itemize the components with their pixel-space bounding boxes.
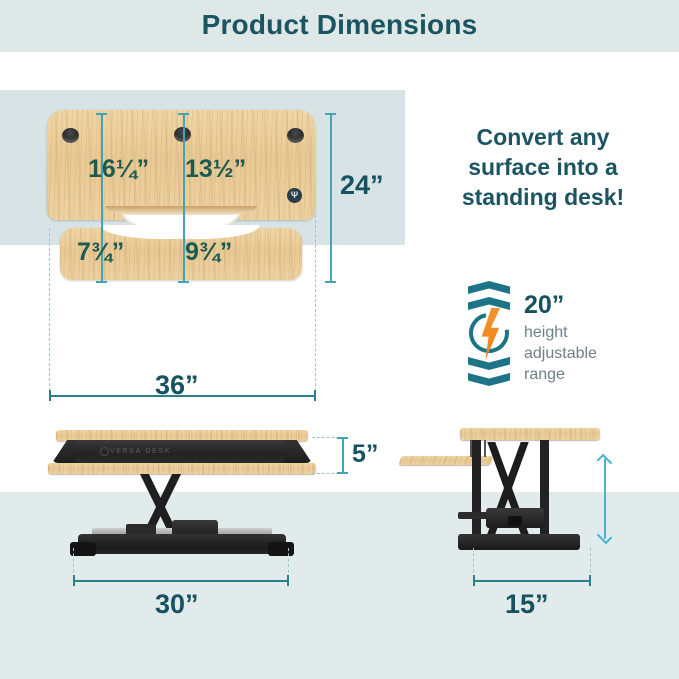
height-range-description: height adjustable range bbox=[524, 322, 664, 385]
dim-cap-left-top bbox=[96, 113, 107, 115]
arrow-head-up-icon bbox=[597, 454, 613, 470]
tagline-line-2: surface into a bbox=[418, 152, 668, 182]
cable-grommet-right-icon bbox=[287, 128, 304, 143]
dim-label-7-75: 7¾” bbox=[77, 238, 124, 267]
height-range-double-arrow-icon bbox=[598, 455, 611, 543]
dim-label-9-75: 9¾” bbox=[185, 238, 232, 267]
dim-cap-30-right bbox=[287, 575, 289, 586]
dim-cap-thickness-bottom bbox=[337, 472, 348, 474]
dim-label-13-5: 13½” bbox=[185, 155, 246, 184]
ext-line-15-right bbox=[590, 548, 591, 578]
chevron-down-icon-2 bbox=[468, 373, 510, 386]
dim-cap-width-right bbox=[314, 390, 316, 401]
dim-label-36: 36” bbox=[155, 370, 199, 401]
height-range-value: 20” bbox=[524, 291, 564, 320]
chevron-up-icon-1 bbox=[468, 281, 510, 294]
brand-logo-text: VERSA DESK bbox=[110, 448, 210, 455]
raised-view-top-board bbox=[460, 428, 600, 440]
raised-view-hanger-right bbox=[484, 440, 486, 457]
dim-line-depth-24 bbox=[330, 113, 332, 283]
tagline: Convert any surface into a standing desk… bbox=[418, 122, 668, 212]
dim-cap-15-left bbox=[473, 575, 475, 586]
ext-line-30-right bbox=[288, 548, 289, 578]
arrow-head-down-icon bbox=[597, 529, 613, 545]
raised-view-base bbox=[458, 534, 580, 550]
dim-cap-30-left bbox=[73, 575, 75, 586]
dim-cap-left-bottom bbox=[96, 281, 107, 283]
product-dimensions-infographic: Product Dimensions Convert any surface i… bbox=[0, 0, 679, 679]
dim-label-30: 30” bbox=[155, 589, 199, 620]
ext-line-15-left bbox=[473, 548, 474, 578]
brand-badge-icon: Ψ bbox=[287, 188, 302, 203]
chevron-down-icon-1 bbox=[468, 357, 510, 370]
ext-line-width-left bbox=[49, 228, 50, 396]
dim-label-24: 24” bbox=[340, 170, 384, 201]
tagline-line-3: standing desk! bbox=[418, 182, 668, 212]
dim-cap-width-left bbox=[49, 390, 51, 401]
brand-logo-mark-icon bbox=[100, 447, 109, 456]
desk-raised-side-view-illustration bbox=[400, 428, 600, 556]
raised-view-knob bbox=[508, 516, 522, 526]
dim-cap-depth-bottom bbox=[325, 281, 336, 283]
raised-view-column-left bbox=[472, 440, 481, 534]
dim-label-5: 5” bbox=[352, 440, 378, 469]
ext-line-30-left bbox=[73, 548, 74, 578]
keyboard-tray-contour bbox=[100, 225, 260, 239]
ext-line-width-right bbox=[315, 215, 316, 396]
cable-grommet-left-icon bbox=[62, 128, 79, 143]
dim-cap-15-right bbox=[589, 575, 591, 586]
page-title: Product Dimensions bbox=[0, 9, 679, 41]
chevron-up-icon-2 bbox=[468, 297, 510, 310]
dim-label-15: 15” bbox=[505, 589, 549, 620]
dim-line-depth-15 bbox=[473, 580, 591, 582]
dim-line-thickness-5 bbox=[342, 437, 344, 474]
side-view-tray-board bbox=[48, 463, 316, 474]
desk-side-view-illustration: VERSA DESK bbox=[48, 430, 316, 555]
dim-cap-depth-top bbox=[325, 113, 336, 115]
dim-cap-center-bottom bbox=[178, 281, 189, 283]
side-view-foot-right bbox=[268, 542, 294, 556]
dim-cap-center-top bbox=[178, 113, 189, 115]
tagline-line-1: Convert any bbox=[418, 122, 668, 152]
arrow-shaft bbox=[604, 459, 606, 539]
side-view-base bbox=[78, 534, 286, 554]
height-adjust-bolt-icon bbox=[466, 281, 512, 386]
dim-cap-thickness-top bbox=[337, 437, 348, 439]
dim-line-width-30 bbox=[73, 580, 289, 582]
dim-label-16-25: 16¼” bbox=[88, 155, 149, 184]
